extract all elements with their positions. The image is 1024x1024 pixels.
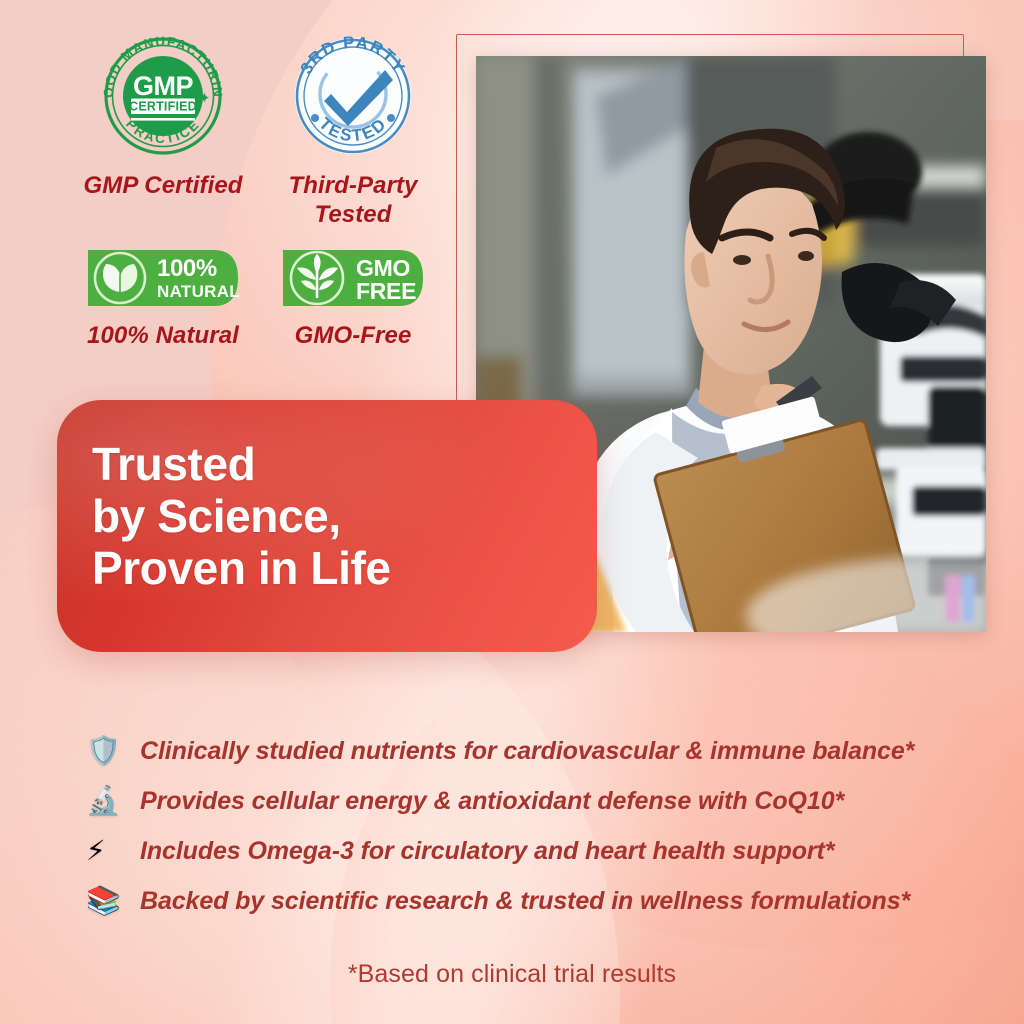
benefit-text: Clinically studied nutrients for cardiov… [140, 737, 914, 766]
shield-check-icon: 🛡️ [86, 737, 140, 765]
svg-text:FREE: FREE [356, 278, 416, 304]
microscope-icon: 🔬 [86, 787, 140, 815]
gmp-certified-seal-icon: GOOD MANUFACTURING PRACTICE ✦ ✦ GMP CERT… [97, 30, 229, 162]
badge-gmp-certified: GOOD MANUFACTURING PRACTICE ✦ ✦ GMP CERT… [68, 30, 258, 230]
svg-text:100%: 100% [157, 255, 217, 282]
list-item: 📚 Backed by scientific research & truste… [86, 876, 966, 926]
books-icon: 📚 [86, 887, 140, 915]
benefit-list: 🛡️ Clinically studied nutrients for card… [86, 726, 966, 926]
badge-gmo-free: GMO FREE GMO-Free [258, 244, 448, 350]
third-party-tested-seal-icon: 3RD PARTY TESTED [287, 30, 419, 162]
badge-100-percent-natural: 100% NATURAL 100% Natural [68, 244, 258, 350]
badge-label: GMP Certified [83, 171, 242, 200]
svg-text:CERTIFIED: CERTIFIED [129, 100, 197, 114]
benefit-text: Includes Omega-3 for circulatory and hea… [140, 837, 834, 866]
badge-label: Third-Party Tested [258, 171, 448, 230]
badge-third-party-tested: 3RD PARTY TESTED Third-Party Tested [258, 30, 448, 230]
svg-text:✦: ✦ [198, 90, 211, 107]
badge-label: GMO-Free [295, 321, 412, 350]
svg-text:GMP: GMP [133, 71, 193, 101]
trust-badge-row-1: GOOD MANUFACTURING PRACTICE ✦ ✦ GMP CERT… [68, 30, 448, 230]
benefit-text: Provides cellular energy & antioxidant d… [140, 787, 844, 816]
trust-badge-row-2: 100% NATURAL 100% Natural [68, 244, 448, 350]
trust-badge-grid: GOOD MANUFACTURING PRACTICE ✦ ✦ GMP CERT… [68, 30, 448, 350]
page-title: Trusted by Science, Proven in Life [92, 438, 512, 594]
svg-text:NATURAL: NATURAL [157, 282, 240, 301]
list-item: ⚡ Includes Omega-3 for circulatory and h… [86, 826, 966, 876]
footnote-disclaimer: *Based on clinical trial results [0, 960, 1024, 989]
hundred-percent-natural-badge-icon: 100% NATURAL [82, 244, 244, 312]
poster-canvas: GOOD MANUFACTURING PRACTICE ✦ ✦ GMP CERT… [0, 0, 1024, 1024]
gmo-free-badge-icon: GMO FREE [279, 244, 427, 312]
list-item: 🔬 Provides cellular energy & antioxidant… [86, 776, 966, 826]
lightning-bolt-icon: ⚡ [86, 837, 140, 865]
list-item: 🛡️ Clinically studied nutrients for card… [86, 726, 966, 776]
badge-label: 100% Natural [87, 321, 239, 350]
benefit-text: Backed by scientific research & trusted … [140, 887, 910, 916]
